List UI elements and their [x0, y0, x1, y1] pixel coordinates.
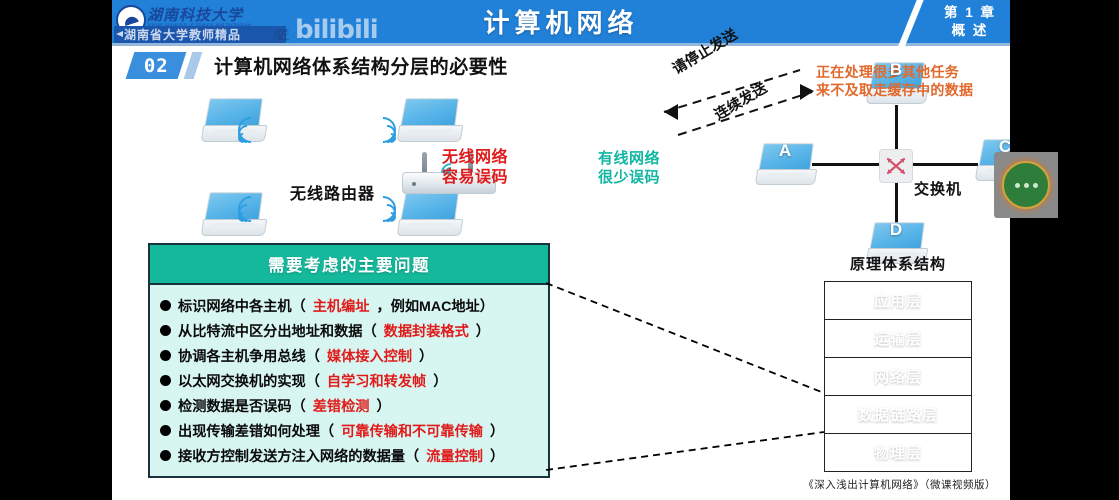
wireless-note-line2: 容易误码 [442, 168, 508, 188]
issue-tail: ，例如MAC地址） [376, 296, 493, 316]
wifi-signal-icon [238, 196, 264, 222]
issue-tail: ） [490, 446, 504, 466]
floating-overlay-button[interactable] [994, 152, 1058, 218]
wired-note-line2: 很少误码 [598, 169, 660, 187]
bullet-icon [160, 400, 171, 411]
section-number: 02 [144, 55, 169, 77]
list-item: 从比特流中区分出地址和数据（数据封装格式） [160, 318, 548, 343]
issue-text: 从比特流中区分出地址和数据（ [178, 321, 377, 341]
laptop-base [755, 169, 818, 185]
laptop-wireless-top-right [398, 98, 460, 142]
layer-data-link: 数据链路层 [825, 396, 971, 434]
issue-tail: ） [476, 321, 490, 341]
wireless-note-line1: 无线网络 [442, 148, 508, 168]
issue-emphasis: 流量控制 [426, 446, 483, 466]
issue-emphasis: 可靠传输和不可靠传输 [341, 421, 483, 441]
list-item: 出现传输差错如何处理（可靠传输和不可靠传输） [160, 418, 548, 443]
more-options-icon[interactable] [1002, 161, 1050, 209]
ribbon-text: 湖南省大学教师精品 [124, 26, 241, 43]
architecture-panel: 原理体系结构 应用层 运输层 网络层 数据链路层 物理层 [824, 253, 972, 472]
layer-label: 数据链路层 [858, 404, 938, 425]
section-badge-accent [184, 52, 203, 79]
bullet-icon [160, 325, 171, 336]
wifi-signal-icon [238, 117, 264, 143]
busy-note-line2: 来不及取走缓存中的数据 [816, 82, 973, 99]
laptop-screen [400, 98, 459, 127]
host-label-b: B [867, 60, 925, 80]
host-label-d: D [867, 220, 925, 240]
layer-transport: 运输层 [825, 320, 971, 358]
layer-stack: 应用层 运输层 网络层 数据链路层 物理层 [824, 281, 972, 472]
slide-surface: 计算机网络 第 1 章 概 述 湖南科技大学 Hunan University … [112, 0, 1010, 500]
bullet-icon [160, 425, 171, 436]
link-switch-to-b [895, 105, 898, 151]
key-issues-header: 需要考虑的主要问题 [150, 245, 548, 285]
wired-note-line1: 有线网络 [598, 150, 660, 168]
wifi-signal-icon [370, 117, 396, 143]
issue-tail: ） [419, 346, 433, 366]
issue-emphasis: 自学习和转发帧 [327, 371, 426, 391]
host-label-a: A [756, 141, 814, 161]
bullet-icon [160, 300, 171, 311]
layer-label: 应用层 [874, 290, 922, 311]
list-item: 协调各主机争用总线（媒体接入控制） [160, 343, 548, 368]
laptop-base [397, 219, 464, 236]
issue-text: 协调各主机争用总线（ [178, 346, 320, 366]
key-issues-title: 需要考虑的主要问题 [268, 252, 430, 276]
section-number-badge: 02 [126, 52, 187, 79]
list-item: 接收方控制发送方注入网络的数据量（流量控制） [160, 443, 548, 468]
issue-text: 标识网络中各主机（ [178, 296, 306, 316]
chapter-name: 概 述 [952, 22, 989, 40]
issue-tail: ） [376, 396, 390, 416]
issue-tail: ） [433, 371, 447, 391]
section-header: 02 计算机网络体系结构分层的必要性 [130, 52, 508, 79]
screen: 计算机网络 第 1 章 概 述 湖南科技大学 Hunan University … [0, 0, 1119, 500]
link-switch-to-c [910, 163, 978, 166]
laptop-host-a: A [756, 143, 814, 185]
bullet-icon [160, 375, 171, 386]
watermark-small-text: /匠 [274, 26, 289, 43]
issue-emphasis: 主机编址 [313, 296, 370, 316]
laptop-screen [400, 192, 459, 221]
issue-text: 接收方控制发送方注入网络的数据量（ [178, 446, 419, 466]
layer-physical: 物理层 [825, 434, 971, 471]
section-title: 计算机网络体系结构分层的必要性 [214, 52, 508, 79]
key-issues-box: 需要考虑的主要问题 标识网络中各主机（主机编址，例如MAC地址） 从比特流中区分… [148, 243, 550, 478]
arrow-label-continuous-sending: 连续发送 [712, 80, 771, 125]
issue-text: 出现传输差错如何处理（ [178, 421, 334, 441]
chapter-number: 第 1 章 [944, 4, 996, 22]
bullet-icon [160, 450, 171, 461]
layer-application: 应用层 [825, 282, 971, 320]
network-switch-icon [879, 149, 913, 183]
list-item: 检测数据是否误码（差错检测） [160, 393, 548, 418]
laptop-base [397, 125, 464, 142]
key-issues-list: 标识网络中各主机（主机编址，例如MAC地址） 从比特流中区分出地址和数据（数据封… [150, 285, 548, 476]
list-item: 标识网络中各主机（主机编址，例如MAC地址） [160, 293, 548, 318]
layer-label: 物理层 [874, 442, 922, 463]
slide-footer: 《深入浅出计算机网络》（微课视频版） [803, 477, 996, 492]
issue-emphasis: 媒体接入控制 [327, 346, 412, 366]
bilibili-watermark: bilibili [295, 15, 378, 45]
issue-text: 检测数据是否误码（ [178, 396, 306, 416]
chapter-indicator: 第 1 章 概 述 [944, 0, 996, 43]
architecture-title: 原理体系结构 [824, 253, 972, 274]
layer-label: 网络层 [874, 366, 922, 387]
university-logo-watermark: 湖南科技大学 Hunan University of Science and T… [114, 2, 364, 46]
issue-tail: ） [490, 421, 504, 441]
link-a-to-switch [812, 163, 880, 166]
laptop-wireless-bottom-right [398, 192, 460, 236]
issue-text: 以太网交换机的实现（ [178, 371, 320, 391]
wireless-router-label: 无线路由器 [290, 185, 375, 205]
layer-network: 网络层 [825, 358, 971, 396]
switch-label: 交换机 [914, 181, 962, 199]
issue-emphasis: 差错检测 [313, 396, 370, 416]
bullet-icon [160, 350, 171, 361]
issue-emphasis: 数据封装格式 [384, 321, 469, 341]
list-item: 以太网交换机的实现（自学习和转发帧） [160, 368, 548, 393]
layer-label: 运输层 [874, 328, 922, 349]
